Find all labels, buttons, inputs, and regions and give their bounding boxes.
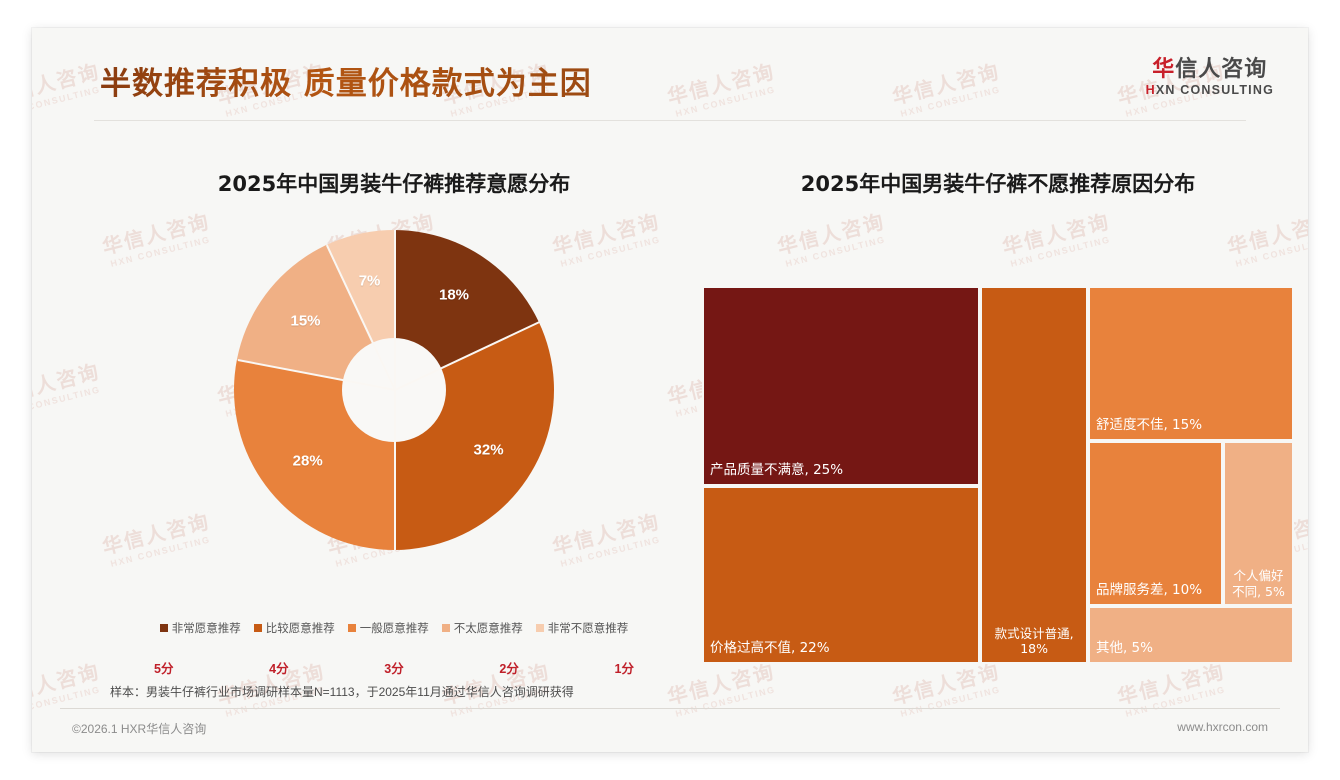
- legend-swatch: [254, 624, 262, 632]
- logo-chinese-rest: 信人咨询: [1175, 56, 1267, 81]
- legend-item[interactable]: 非常愿意推荐: [160, 620, 241, 636]
- footer-copyright: ©2026.1 HXR华信人咨询: [72, 720, 206, 737]
- sample-note: 样本：男装牛仔裤行业市场调研样本量N=1113，于2025年11月通过华信人咨询…: [110, 683, 574, 700]
- legend-label: 不太愿意推荐: [454, 620, 523, 636]
- legend-label: 比较愿意推荐: [266, 620, 335, 636]
- logo-chinese-accent: 华: [1152, 56, 1175, 81]
- treemap-cell[interactable]: 品牌服务差, 10%: [1088, 441, 1223, 606]
- treemap-cell-label: 款式设计普通, 18%: [985, 626, 1083, 657]
- score-scale-row: 5分4分3分2分1分: [94, 658, 694, 677]
- score-label: 5分: [154, 658, 173, 677]
- donut-slice-separator: [394, 390, 396, 550]
- legend-label: 一般愿意推荐: [360, 620, 429, 636]
- score-label: 3分: [384, 658, 403, 677]
- treemap-cell[interactable]: 舒适度不佳, 15%: [1088, 286, 1294, 441]
- treemap-cell-label: 价格过高不值, 22%: [710, 640, 973, 657]
- treemap-cell[interactable]: 款式设计普通, 18%: [980, 286, 1088, 664]
- donut-slice-label: 32%: [474, 442, 504, 459]
- donut-legend: 非常愿意推荐比较愿意推荐一般愿意推荐不太愿意推荐非常不愿意推荐: [94, 620, 694, 636]
- donut-chart: 18%32%28%15%7%: [94, 230, 694, 590]
- donut-slice-separator: [394, 230, 396, 390]
- logo-english-accent: H: [1146, 83, 1156, 97]
- logo-english-rest: XN CONSULTING: [1156, 83, 1274, 97]
- treemap-cell[interactable]: 价格过高不值, 22%: [702, 486, 980, 664]
- score-label: 1分: [615, 658, 634, 677]
- treemap-cell-label: 舒适度不佳, 15%: [1096, 417, 1287, 434]
- logo-english: HXN CONSULTING: [1146, 83, 1274, 97]
- left-chart-title: 2025年中国男装牛仔裤推荐意愿分布: [94, 168, 694, 198]
- treemap-cell-label: 其他, 5%: [1096, 640, 1287, 657]
- slide-canvas: 华信人咨询HXN CONSULTING华信人咨询HXN CONSULTING华信…: [32, 28, 1308, 752]
- treemap-cell-label: 品牌服务差, 10%: [1096, 582, 1216, 599]
- legend-swatch: [348, 624, 356, 632]
- donut-slice-label: 7%: [359, 272, 381, 289]
- score-label: 4分: [269, 658, 288, 677]
- company-logo: 华信人咨询 HXN CONSULTING: [1146, 56, 1274, 97]
- treemap-cell[interactable]: 个人偏好不同, 5%: [1223, 441, 1294, 606]
- header-divider: [94, 120, 1246, 121]
- legend-label: 非常愿意推荐: [172, 620, 241, 636]
- legend-swatch: [442, 624, 450, 632]
- logo-chinese: 华信人咨询: [1146, 56, 1274, 81]
- legend-swatch: [160, 624, 168, 632]
- legend-item[interactable]: 不太愿意推荐: [442, 620, 523, 636]
- right-chart-panel: 2025年中国男装牛仔裤不愿推荐原因分布 产品质量不满意, 25%价格过高不值,…: [698, 168, 1298, 698]
- donut-slice-label: 28%: [293, 453, 323, 470]
- footer-divider: [60, 708, 1280, 709]
- donut-slice-label: 15%: [290, 313, 320, 330]
- treemap-cell-label: 个人偏好不同, 5%: [1228, 568, 1289, 599]
- left-chart-panel: 2025年中国男装牛仔裤推荐意愿分布 18%32%28%15%7% 非常愿意推荐…: [94, 168, 694, 698]
- treemap-cell[interactable]: 其他, 5%: [1088, 606, 1294, 664]
- treemap-cell[interactable]: 产品质量不满意, 25%: [702, 286, 980, 486]
- legend-item[interactable]: 比较愿意推荐: [254, 620, 335, 636]
- legend-label: 非常不愿意推荐: [548, 620, 629, 636]
- legend-swatch: [536, 624, 544, 632]
- score-label: 2分: [499, 658, 518, 677]
- legend-item[interactable]: 非常不愿意推荐: [536, 620, 629, 636]
- page-title: 半数推荐积极 质量价格款式为主因: [100, 58, 592, 103]
- treemap-chart: 产品质量不满意, 25%价格过高不值, 22%款式设计普通, 18%舒适度不佳,…: [702, 286, 1294, 664]
- donut-slice-label: 18%: [439, 287, 469, 304]
- legend-item[interactable]: 一般愿意推荐: [348, 620, 429, 636]
- right-chart-title: 2025年中国男装牛仔裤不愿推荐原因分布: [698, 168, 1298, 198]
- slide-header: 半数推荐积极 质量价格款式为主因 华信人咨询 HXN CONSULTING: [32, 28, 1308, 128]
- footer-website: www.hxrcon.com: [1177, 720, 1268, 734]
- treemap-cell-label: 产品质量不满意, 25%: [710, 462, 973, 479]
